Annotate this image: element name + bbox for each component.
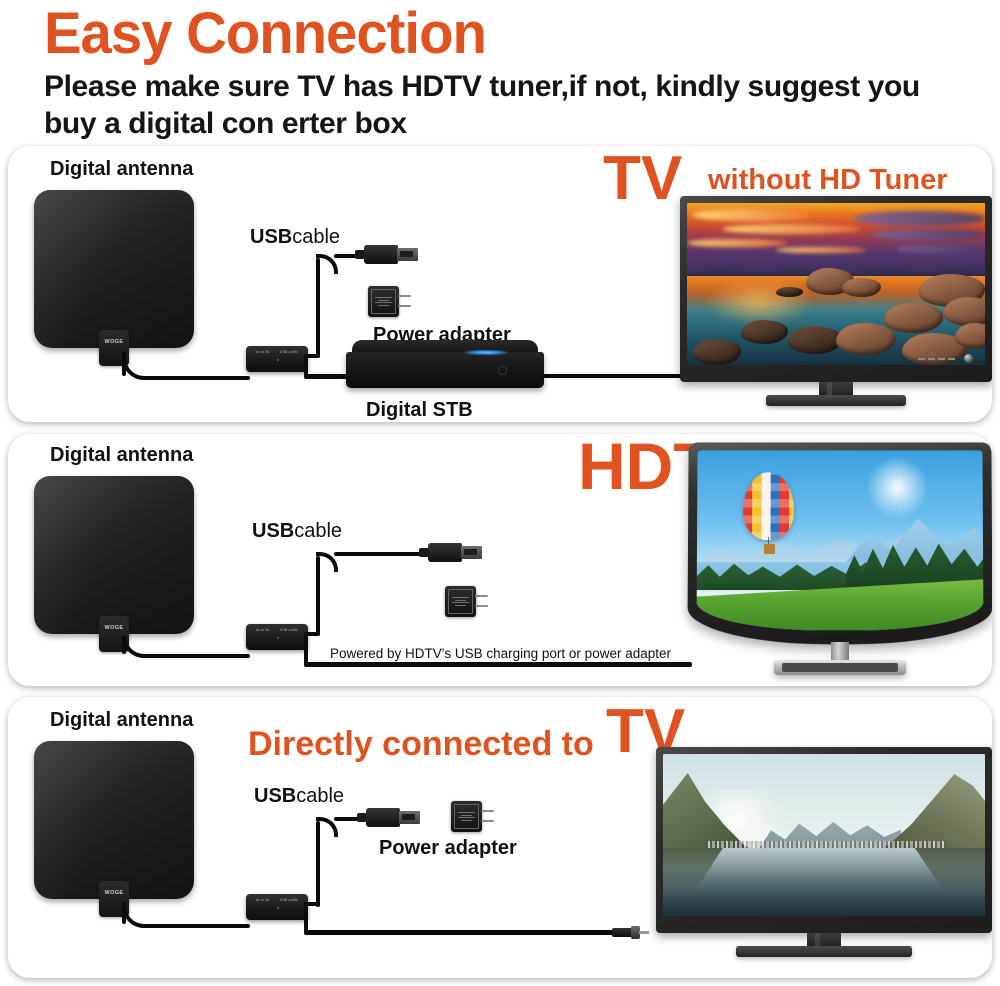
power-adapter-text-line: [452, 597, 469, 598]
tv-stand-base: [766, 395, 906, 406]
power-adapter-text-line: [455, 600, 467, 601]
power-adapter-text-line: [458, 812, 475, 813]
signal-amplifier: dc in 5v USB out5v: [246, 624, 308, 650]
power-adapter-prong: [481, 820, 494, 822]
tv-heading-small: without HD Tuner: [708, 164, 947, 197]
diagram-panel-direct-to-tv: Digital antenna WOGE dc in 5v USB out5v …: [8, 697, 992, 978]
amp-port-label-right: USB out5v: [280, 350, 298, 354]
coax-connector: [612, 926, 652, 939]
power-adapter-text-line: [378, 305, 390, 306]
antenna-brand-text: WOGE: [104, 890, 123, 896]
stb-label: Digital STB: [366, 399, 473, 422]
hdtv-screen: [697, 450, 984, 630]
amp-port-label-left: dc in 5v: [256, 350, 269, 354]
antenna-label: Digital antenna: [50, 444, 193, 467]
usb-cable-to-connector: [334, 552, 428, 556]
amp-port-label-right: USB out5v: [280, 628, 298, 632]
power-adapter-text-line: [375, 302, 392, 303]
hdtv-bezel: [687, 442, 992, 644]
signal-amplifier: dc in 5v USB out5v: [246, 894, 308, 920]
antenna-cable-horizontal: [140, 654, 250, 658]
tv-bezel: [680, 196, 992, 382]
usb-connector: [364, 245, 418, 264]
power-adapter-prong: [475, 595, 488, 597]
power-adapter-text-line: [452, 602, 469, 603]
amp-led: [277, 637, 279, 639]
usb-cable-label: USBcable: [250, 226, 340, 249]
amp-out-cable-v: [304, 906, 308, 932]
header: Easy Connection Please make sure TV has …: [0, 0, 1000, 142]
power-adapter: [445, 586, 476, 617]
amp-port-label-left: dc in 5v: [256, 898, 269, 902]
tv-without-hd-tuner: [680, 196, 992, 382]
page-title: Easy Connection: [44, 4, 971, 63]
usb-connector-tip: [461, 546, 482, 559]
usb-cable-label-thin: cable: [296, 785, 344, 807]
digital-stb: [346, 340, 544, 392]
power-adapter-text-line: [378, 300, 390, 301]
power-source-note: Powered by HDTV's USB charging port or p…: [330, 646, 671, 661]
amp-to-hdtv-cable: [304, 662, 692, 667]
screen-image-balloon-meadow: [697, 450, 984, 630]
antenna-label: Digital antenna: [50, 709, 193, 732]
screen-image-fjord-lake: [663, 754, 985, 916]
tv-heading-small: Directly connected to: [248, 725, 594, 764]
tv-stand-base: [736, 946, 912, 957]
stb-led-indicator: [464, 350, 508, 355]
power-adapter-text-line: [375, 297, 392, 298]
amp-port-label-right: USB out5v: [280, 898, 298, 902]
tv-bezel: [656, 747, 992, 933]
coax-body: [612, 928, 632, 937]
tv-control-buttons[interactable]: [918, 358, 955, 360]
tv-direct-connection: [656, 747, 992, 933]
signal-amplifier: dc in 5v USB out5v: [246, 346, 308, 372]
power-adapter-prong: [475, 605, 488, 607]
stb-to-tv-cable: [542, 374, 688, 378]
usb-connector-tip: [399, 811, 420, 824]
curved-hdtv: [688, 442, 992, 644]
power-adapter-text-line: [455, 605, 467, 606]
usb-cable-label: USBcable: [252, 520, 342, 543]
usb-connector-body: [428, 543, 462, 562]
power-adapter-face: [448, 589, 473, 614]
power-adapter-text-line: [458, 817, 475, 818]
power-adapter-label: Power adapter: [379, 837, 517, 860]
hot-air-balloon: [743, 472, 795, 540]
usb-connector: [366, 808, 420, 827]
hdtv-stand-base: [774, 660, 906, 675]
power-adapter: [451, 801, 482, 832]
usb-cable-label-bold: USB: [252, 520, 294, 542]
power-adapter-prong: [398, 305, 411, 307]
usb-cable-label-bold: USB: [250, 226, 292, 248]
antenna-cable-horizontal: [140, 924, 250, 928]
antenna-brand-text: WOGE: [104, 339, 123, 345]
page-subtitle: Please make sure TV has HDTV tuner,if no…: [44, 69, 974, 142]
coax-pin: [639, 931, 649, 934]
power-adapter-text-line: [461, 820, 473, 821]
stb-front: [346, 352, 544, 388]
tv-heading-big: TV: [603, 150, 682, 207]
amp-to-tv-coax-cable: [304, 930, 614, 935]
power-adapter-prong: [398, 295, 411, 297]
usb-connector-tip: [397, 248, 418, 261]
tv-screen: [663, 754, 985, 916]
digital-antenna: WOGE: [34, 190, 194, 348]
digital-antenna: WOGE: [34, 476, 194, 634]
power-adapter-prong: [481, 810, 494, 812]
balloon-basket: [764, 544, 775, 555]
antenna-cable-horizontal: [140, 376, 250, 380]
usb-cable-label-thin: cable: [292, 226, 340, 248]
amp-port-label-left: dc in 5v: [256, 628, 269, 632]
usb-connector: [428, 543, 482, 562]
diagram-panel-hdtv: Digital antenna WOGE dc in 5v USB out5v …: [8, 434, 992, 686]
tv-brand-logo-icon: [964, 354, 973, 363]
antenna-label: Digital antenna: [50, 158, 193, 181]
diagram-panel-without-hd-tuner: Digital antenna WOGE dc in 5v USB out5v: [8, 146, 992, 422]
usb-cable-label-bold: USB: [254, 785, 296, 807]
amp-led: [277, 359, 279, 361]
amp-out-cable-v: [304, 636, 308, 664]
antenna-brand-text: WOGE: [104, 625, 123, 631]
digital-antenna: WOGE: [34, 741, 194, 899]
amp-to-stb-cable: [304, 374, 352, 379]
tv-screen: [687, 203, 985, 365]
power-adapter: [368, 286, 399, 317]
usb-connector-body: [366, 808, 400, 827]
power-adapter-face: [371, 289, 396, 314]
amp-led: [277, 907, 279, 909]
usb-connector-body: [364, 245, 398, 264]
power-adapter-face: [454, 804, 479, 829]
stb-power-button[interactable]: [498, 366, 507, 375]
power-adapter-text-line: [461, 815, 473, 816]
usb-cable-label: USBcable: [254, 785, 344, 808]
screen-image-sunset-lake: [687, 203, 985, 365]
usb-cable-label-thin: cable: [294, 520, 342, 542]
